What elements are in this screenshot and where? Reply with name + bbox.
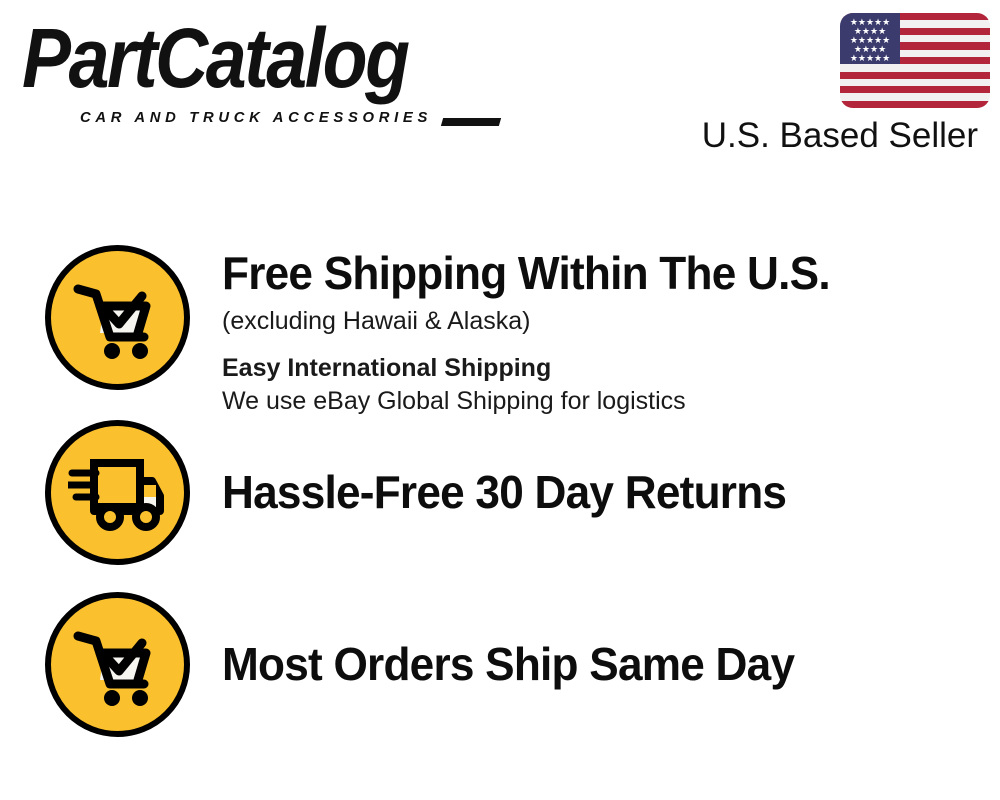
- brand-logo-wordmark: PartCatalog: [22, 16, 408, 101]
- flag-canton: ★★★★★ ★★★★ ★★★★★ ★★★★ ★★★★★: [840, 13, 900, 64]
- shopping-cart-check-icon: [45, 592, 190, 737]
- us-based-seller-badge: ★★★★★ ★★★★ ★★★★★ ★★★★ ★★★★★ U.S. Based S…: [840, 13, 990, 108]
- feature-title: Free Shipping Within The U.S.: [222, 249, 830, 298]
- feature-title: Hassle-Free 30 Day Returns: [222, 468, 786, 517]
- feature-detail: We use eBay Global Shipping for logistic…: [222, 386, 855, 416]
- promo-banner: PartCatalog CAR AND TRUCK ACCESSORIES: [0, 0, 1000, 800]
- feature-title: Most Orders Ship Same Day: [222, 640, 794, 689]
- feature-text-same-day-ship: Most Orders Ship Same Day: [222, 640, 818, 689]
- feature-row-free-shipping: Free Shipping Within The U.S. (excluding…: [45, 245, 975, 416]
- feature-text-free-shipping: Free Shipping Within The U.S. (excluding…: [222, 245, 855, 416]
- feature-row-same-day-ship: Most Orders Ship Same Day: [45, 592, 975, 737]
- feature-row-returns: Hassle-Free 30 Day Returns: [45, 420, 975, 565]
- feature-text-returns: Hassle-Free 30 Day Returns: [222, 468, 810, 517]
- us-flag-icon: ★★★★★ ★★★★ ★★★★★ ★★★★ ★★★★★: [840, 13, 990, 108]
- brand-logo: PartCatalog CAR AND TRUCK ACCESSORIES: [22, 22, 492, 117]
- delivery-truck-icon: [45, 420, 190, 565]
- us-based-seller-label: U.S. Based Seller: [702, 116, 978, 156]
- logo-underline-accent: [441, 118, 501, 126]
- feature-note: (excluding Hawaii & Alaska): [222, 306, 855, 336]
- brand-logo-tagline: CAR AND TRUCK ACCESSORIES: [80, 110, 432, 126]
- feature-subtitle: Easy International Shipping: [222, 353, 855, 383]
- shopping-cart-check-icon: [45, 245, 190, 390]
